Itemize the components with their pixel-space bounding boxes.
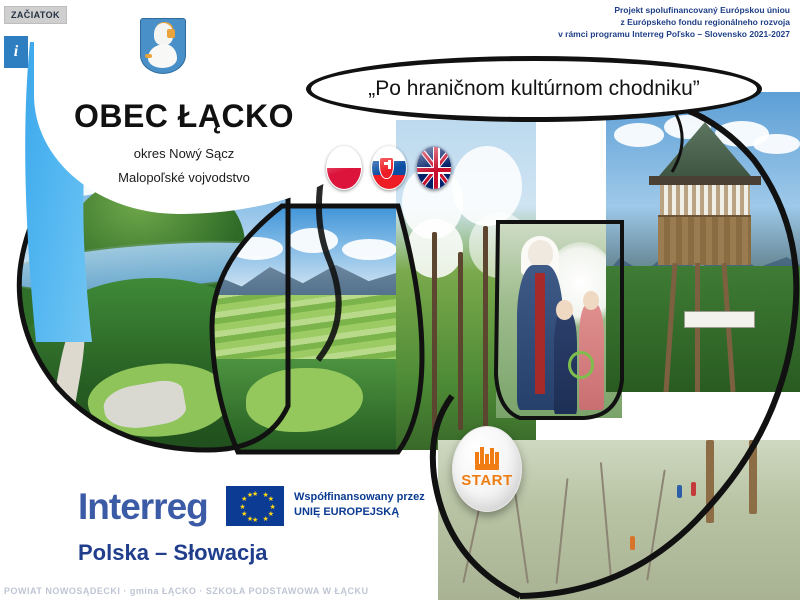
tower-sign xyxy=(684,311,756,328)
page-title: „Po hraničnom kultúrnom chodniku” xyxy=(368,77,700,101)
eu-cofinanced-text: Współfinansowany przez UNIĘ EUROPEJSKĄ xyxy=(294,490,444,520)
photo-mural-nun-with-children xyxy=(496,222,622,418)
language-switcher xyxy=(326,146,452,190)
municipality-district: okres Nowý Sącz xyxy=(34,146,334,161)
start-button[interactable]: START xyxy=(452,426,522,512)
interreg-wordmark: Interreg xyxy=(78,486,208,528)
interreg-logo-block: Interreg ★ ★ ★ ★ ★ ★ ★ ★ ★ ★ ★ ★ Współfi… xyxy=(78,482,418,582)
flag-poland-icon[interactable] xyxy=(326,146,362,190)
start-tooltip: ZAČIATOK xyxy=(4,6,67,24)
eu-flag-icon: ★ ★ ★ ★ ★ ★ ★ ★ ★ ★ ★ ★ xyxy=(226,486,284,526)
coat-of-arms-icon xyxy=(140,18,186,74)
eu-funding-line-3: v rámci programu Interreg Poľsko – Slove… xyxy=(460,28,790,40)
start-button-label: START xyxy=(461,472,512,489)
title-speech-bubble: „Po hraničnom kultúrnom chodniku” xyxy=(306,56,762,122)
photo-lookout-tower xyxy=(606,92,800,392)
municipality-name: OBEC ŁĄCKO xyxy=(34,98,334,135)
eu-funding-line-1: Projekt spolufinancovaný Európskou úniou xyxy=(460,4,790,16)
splash-screen: ZAČIATOK i Projekt spolufinancovaný Euró… xyxy=(0,0,800,600)
castle-icon xyxy=(474,450,500,470)
interreg-countries: Polska – Słowacja xyxy=(78,540,268,566)
info-button[interactable]: i xyxy=(4,36,28,68)
flag-united-kingdom-icon[interactable] xyxy=(416,146,452,190)
eu-cofinanced-line-1: Współfinansowany przez xyxy=(294,490,444,505)
flag-slovakia-icon[interactable] xyxy=(371,146,407,190)
municipality-voivodeship: Malopoľské vojvodstvo xyxy=(34,170,334,185)
partners-strip: POWIAT NOWOSĄDECKI · gmina ŁĄCKO · SZKOŁ… xyxy=(4,586,524,596)
eu-cofinanced-line-2: UNIĘ EUROPEJSKĄ xyxy=(294,505,444,520)
eu-funding-line-2: z Európskeho fondu regionálneho rozvoja xyxy=(460,16,790,28)
eu-funding-statement: Projekt spolufinancovaný Európskou úniou… xyxy=(460,4,790,40)
photo-aerial-valley xyxy=(212,206,422,452)
